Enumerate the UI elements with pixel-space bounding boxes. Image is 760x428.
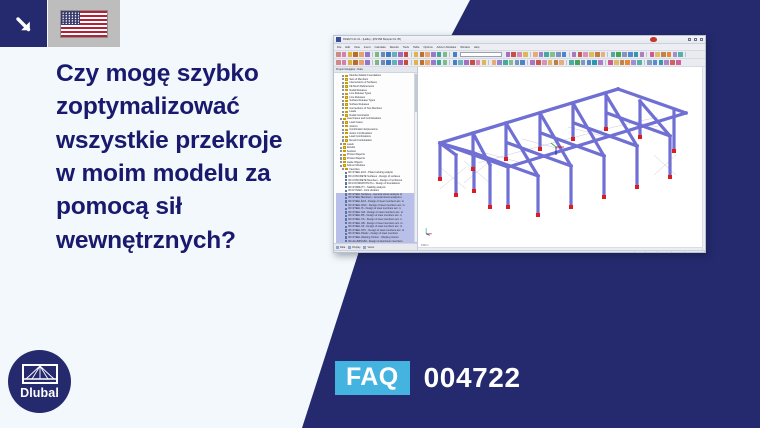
toolbar-button[interactable] bbox=[398, 52, 403, 57]
tree-expand-icon[interactable] bbox=[342, 96, 344, 98]
canvas-vertical-scrollbar[interactable] bbox=[702, 67, 705, 250]
toolbar-separator bbox=[411, 52, 412, 57]
menu-item-tools[interactable]: Tools bbox=[403, 46, 409, 49]
tree-item-label: Surface Release Types bbox=[349, 99, 375, 102]
toolbar-button[interactable] bbox=[562, 52, 567, 57]
tree-item-label: RF-STEEL Members - General stress analys… bbox=[348, 196, 402, 199]
toolbar-button[interactable] bbox=[443, 60, 448, 65]
tree-expand-icon[interactable] bbox=[342, 89, 344, 91]
toolbar-button[interactable] bbox=[425, 60, 430, 65]
toolbar-button[interactable] bbox=[443, 52, 448, 57]
menu-item-table[interactable]: Table bbox=[413, 46, 419, 49]
tree-expand-icon[interactable] bbox=[342, 121, 344, 123]
toolbar-button[interactable] bbox=[381, 52, 386, 57]
toolbar-button[interactable] bbox=[611, 52, 616, 57]
tree-item-label: Action Combinations bbox=[349, 132, 372, 135]
toolbar-button[interactable] bbox=[601, 52, 606, 57]
tree-item-label: Load Cases bbox=[349, 121, 362, 124]
project-navigator[interactable]: Project Navigator - Data Member Elastic … bbox=[334, 67, 418, 250]
toolbar-button[interactable] bbox=[664, 60, 669, 65]
toolbar-button[interactable] bbox=[616, 52, 621, 57]
window-controls[interactable] bbox=[688, 38, 703, 41]
tree-expand-icon[interactable] bbox=[340, 118, 342, 120]
toolbar-button[interactable] bbox=[392, 52, 397, 57]
toolbar-button[interactable] bbox=[640, 52, 645, 57]
toolbar-button[interactable] bbox=[625, 60, 630, 65]
folder-icon bbox=[345, 125, 348, 127]
canvas-horizontal-scrollbar[interactable] bbox=[418, 247, 702, 250]
dlubal-truss-icon bbox=[22, 364, 58, 384]
toolbar-button[interactable] bbox=[414, 52, 419, 57]
folder-icon bbox=[345, 75, 348, 77]
toolbar-button[interactable] bbox=[653, 60, 658, 65]
toolbar-button[interactable] bbox=[464, 60, 469, 65]
tree-expand-icon[interactable] bbox=[342, 111, 344, 113]
folder-icon bbox=[345, 93, 348, 95]
folder-icon bbox=[343, 154, 346, 156]
statusbar-toggle-ortho[interactable]: ORTHO bbox=[658, 251, 672, 253]
toolbar-button[interactable] bbox=[592, 60, 597, 65]
tree-item-label: RF-CONCRETE Members - Design of reinforc… bbox=[348, 179, 402, 182]
menu-item-add-on-modules[interactable]: Add-on Modules bbox=[437, 46, 457, 49]
menu-item-file[interactable]: File bbox=[337, 46, 341, 49]
tree-item-label: Line Releases bbox=[349, 96, 365, 99]
toolbar-button[interactable] bbox=[437, 60, 442, 65]
navigator-scrollbar[interactable] bbox=[414, 73, 417, 242]
tree-expand-icon[interactable] bbox=[342, 85, 344, 87]
app-icon bbox=[336, 37, 341, 42]
folder-icon bbox=[345, 103, 348, 105]
toolbar-button[interactable] bbox=[595, 52, 600, 57]
arrow-badge bbox=[0, 0, 47, 47]
toolbar-button[interactable] bbox=[634, 52, 639, 57]
toolbar-button[interactable] bbox=[628, 52, 633, 57]
us-flag-icon bbox=[61, 11, 107, 37]
app-toolbar-row1[interactable] bbox=[334, 51, 705, 59]
toolbar-button[interactable] bbox=[348, 60, 353, 65]
toolbar-separator bbox=[488, 60, 489, 65]
tree-item-label: Nodal Constraints bbox=[349, 114, 369, 117]
module-icon bbox=[345, 240, 348, 242]
folder-icon bbox=[345, 168, 348, 170]
toolbar-button[interactable] bbox=[375, 60, 380, 65]
menu-item-insert[interactable]: Insert bbox=[364, 46, 371, 49]
folder-icon bbox=[345, 139, 348, 141]
language-flag-badge bbox=[48, 0, 120, 47]
tree-expand-icon[interactable] bbox=[342, 139, 344, 141]
tree-item-label: Printout Reports bbox=[347, 157, 365, 160]
structural-model-3d bbox=[418, 67, 705, 250]
tree-expand-icon[interactable] bbox=[342, 136, 344, 138]
tree-expand-icon[interactable] bbox=[340, 165, 342, 167]
toolbar-button[interactable] bbox=[492, 60, 497, 65]
toolbar-button[interactable] bbox=[509, 60, 514, 65]
toolbar-button[interactable] bbox=[506, 52, 511, 57]
folder-icon bbox=[343, 150, 346, 152]
toolbar-separator bbox=[449, 52, 450, 57]
toolbar-button[interactable] bbox=[559, 60, 564, 65]
toolbar-button[interactable] bbox=[620, 60, 625, 65]
folder-icon bbox=[343, 143, 346, 145]
tree-item-label: Surface Releases bbox=[349, 103, 369, 106]
page-title: Czy mogę szybko zoptymalizować wszystkie… bbox=[56, 57, 306, 257]
slide-canvas: Czy mogę szybko zoptymalizować wszystkie… bbox=[0, 0, 760, 428]
folder-icon bbox=[343, 164, 346, 166]
toolbar-button[interactable] bbox=[398, 60, 403, 65]
tree-item-label: RF-STEEL EC3 - Plate buckling analysis bbox=[348, 171, 393, 174]
toolbar-separator bbox=[644, 60, 645, 65]
toolbar-button[interactable] bbox=[425, 52, 430, 57]
toolbar-separator bbox=[685, 52, 686, 57]
toolbar-button[interactable] bbox=[392, 60, 397, 65]
tree-expand-icon[interactable] bbox=[342, 114, 344, 116]
tree-expand-icon[interactable] bbox=[340, 154, 342, 156]
toolbar-separator bbox=[607, 52, 608, 57]
tree-expand-icon[interactable] bbox=[340, 143, 342, 145]
toolbar-button[interactable] bbox=[631, 60, 636, 65]
app-statusbar: Model RF-STEEL Members is ready.SNAPGRID… bbox=[334, 250, 705, 253]
toolbar-button[interactable] bbox=[578, 52, 583, 57]
tree-item-label: Loads bbox=[347, 143, 354, 146]
toolbar-separator bbox=[372, 60, 373, 65]
tree-item-label: Guide Objects bbox=[347, 161, 363, 164]
module-icon bbox=[345, 197, 348, 199]
toolbar-button[interactable] bbox=[503, 60, 508, 65]
tree-item-label: Combination Expressions bbox=[349, 128, 377, 131]
tree-item-label: RF-STEEL Plastic - Design of steel membe… bbox=[348, 232, 398, 235]
navigator-tab-label: Views bbox=[367, 246, 374, 249]
tree-item-label: FE Mesh Refinements bbox=[349, 85, 374, 88]
tree-item-label: Actions bbox=[349, 125, 357, 128]
toolbar-button[interactable] bbox=[520, 60, 525, 65]
minimize-icon[interactable] bbox=[688, 38, 691, 41]
folder-icon bbox=[345, 100, 348, 102]
folder-icon bbox=[345, 111, 348, 113]
toolbar-button[interactable] bbox=[655, 52, 660, 57]
tree-item-label: RF-STABILITY - Stability analysis bbox=[348, 186, 385, 189]
menu-item-window[interactable]: Window bbox=[460, 46, 470, 49]
toolbar-button[interactable] bbox=[598, 60, 603, 65]
toolbar-combobox[interactable] bbox=[460, 52, 502, 57]
tree-item-label: Load Cases and Combinations bbox=[347, 117, 381, 120]
module-icon bbox=[345, 204, 348, 206]
toolbar-button[interactable] bbox=[404, 52, 409, 57]
tree-expand-icon[interactable] bbox=[342, 100, 344, 102]
toolbar-button[interactable] bbox=[667, 52, 672, 57]
toolbar-separator bbox=[530, 52, 531, 57]
toolbar-button[interactable] bbox=[637, 60, 642, 65]
toolbar-button[interactable] bbox=[572, 52, 577, 57]
toolbar-button[interactable] bbox=[453, 52, 458, 57]
module-icon bbox=[345, 186, 348, 188]
module-icon bbox=[345, 182, 348, 184]
axis-indicator-icon bbox=[424, 226, 434, 236]
tree-expand-icon[interactable] bbox=[342, 93, 344, 95]
toolbar-button[interactable] bbox=[575, 60, 580, 65]
folder-icon bbox=[343, 118, 346, 120]
tree-item-label: Loads bbox=[349, 110, 356, 113]
toolbar-button[interactable] bbox=[647, 60, 652, 65]
tree-item-label: Nodal Releases bbox=[349, 89, 367, 92]
module-icon bbox=[345, 226, 348, 228]
menu-item-options[interactable]: Options bbox=[423, 46, 432, 49]
toolbar-separator bbox=[527, 60, 528, 65]
tree-expand-icon[interactable] bbox=[342, 78, 344, 80]
module-icon bbox=[345, 172, 348, 174]
toolbar-button[interactable] bbox=[515, 60, 520, 65]
navigator-tab-label: Display bbox=[352, 246, 360, 249]
module-icon bbox=[345, 193, 348, 195]
toolbar-button[interactable] bbox=[554, 60, 559, 65]
tree-expand-icon[interactable] bbox=[342, 75, 344, 77]
dlubal-logo: Dlubal bbox=[8, 350, 71, 413]
toolbar-button[interactable] bbox=[431, 52, 436, 57]
tree-item-label: RF-STEEL AISC - Design of steel members … bbox=[348, 204, 404, 207]
toolbar-separator bbox=[449, 60, 450, 65]
toolbar-button[interactable] bbox=[482, 60, 487, 65]
faq-badge: FAQ 004722 bbox=[335, 361, 521, 395]
toolbar-button[interactable] bbox=[608, 60, 613, 65]
toolbar-button[interactable] bbox=[542, 60, 547, 65]
tree-item-label: RF-STEEL BS - Design of steel members ac… bbox=[348, 214, 402, 217]
module-icon bbox=[345, 229, 348, 231]
toolbar-button[interactable] bbox=[386, 52, 391, 57]
toolbar-button[interactable] bbox=[381, 60, 386, 65]
statusbar-message: Model RF-STEEL Members is ready. bbox=[334, 251, 635, 253]
toolbar-button[interactable] bbox=[511, 52, 516, 57]
tree-item-label: Intersections of Surfaces bbox=[349, 81, 377, 84]
statusbar-toggle-snap[interactable]: SNAP bbox=[635, 251, 647, 253]
toolbar-button[interactable] bbox=[470, 60, 475, 65]
tree-item-label: Line Release Types bbox=[349, 92, 371, 95]
folder-icon bbox=[345, 85, 348, 87]
toolbar-button[interactable] bbox=[342, 60, 347, 65]
toolbar-button[interactable] bbox=[650, 52, 655, 57]
folder-icon bbox=[345, 89, 348, 91]
folder-icon bbox=[345, 132, 348, 134]
toolbar-separator bbox=[605, 60, 606, 65]
toolbar-button[interactable] bbox=[375, 52, 380, 57]
tree-expand-icon[interactable] bbox=[340, 147, 342, 149]
statusbar-toggle-osnap[interactable]: OSNAP bbox=[672, 251, 686, 253]
module-icon bbox=[345, 236, 348, 238]
toolbar-button[interactable] bbox=[458, 60, 463, 65]
tree-item-label: RF-FOUNDATION Pro - Design of foundation… bbox=[348, 182, 400, 185]
navigator-tree[interactable]: Member Elastic FoundationsSets of Member… bbox=[334, 73, 417, 243]
menu-item-results[interactable]: Results bbox=[390, 46, 399, 49]
folder-icon bbox=[345, 136, 348, 138]
tree-item-label: Favorites bbox=[349, 168, 359, 171]
folder-icon bbox=[345, 82, 348, 84]
toolbar-button[interactable] bbox=[614, 60, 619, 65]
toolbar-separator bbox=[372, 52, 373, 57]
frame-members bbox=[440, 89, 686, 215]
tree-item-label: Result Combinations bbox=[349, 139, 372, 142]
model-canvas[interactable]: 0.00 m bbox=[418, 67, 705, 250]
toolbar-button[interactable] bbox=[530, 60, 535, 65]
tree-item-label: RF-STEEL NTC - Design of steel members a… bbox=[348, 229, 404, 232]
menu-item-help[interactable]: Help bbox=[474, 46, 480, 49]
tree-item-label: RF-CONCRETE Surfaces - Design of surface… bbox=[348, 175, 400, 178]
faq-number: 004722 bbox=[424, 362, 521, 394]
folder-icon bbox=[345, 121, 348, 123]
tree-expand-icon[interactable] bbox=[340, 161, 342, 163]
tree-item-label: Load Combinations bbox=[349, 135, 371, 138]
tree-item-label: RF-STEEL GB - Design of steel members ac… bbox=[348, 222, 402, 225]
toolbar-button[interactable] bbox=[336, 52, 341, 57]
toolbar-separator bbox=[566, 60, 567, 65]
tab-icon bbox=[348, 246, 351, 249]
folder-icon bbox=[345, 96, 348, 98]
arrow-down-right-icon bbox=[13, 13, 35, 35]
toolbar-separator bbox=[646, 52, 647, 57]
toolbar-button[interactable] bbox=[359, 52, 364, 57]
folder-icon bbox=[345, 129, 348, 131]
toolbar-button[interactable] bbox=[622, 52, 627, 57]
toolbar-button[interactable] bbox=[359, 60, 364, 65]
toolbar-button[interactable] bbox=[556, 52, 561, 57]
toolbar-button[interactable] bbox=[539, 52, 544, 57]
toolbar-button[interactable] bbox=[548, 60, 553, 65]
module-icon bbox=[345, 190, 348, 192]
tree-expand-icon[interactable] bbox=[342, 168, 344, 170]
navigator-tabs[interactable]: DataDisplayViews bbox=[334, 243, 417, 250]
navigator-tab-views[interactable]: Views bbox=[363, 246, 374, 249]
tree-expand-icon[interactable] bbox=[342, 107, 344, 109]
toolbar-button[interactable] bbox=[404, 60, 409, 65]
toolbar-button[interactable] bbox=[673, 52, 678, 57]
toolbar-button[interactable] bbox=[431, 60, 436, 65]
toolbar-button[interactable] bbox=[336, 60, 341, 65]
module-icon bbox=[345, 208, 348, 210]
toolbar-button[interactable] bbox=[437, 52, 442, 57]
app-title: RFEM 5.21.01 - [Halle] - [RSTAB Beispiel… bbox=[343, 38, 401, 41]
statusbar-toggle-grid[interactable]: GRID bbox=[646, 251, 657, 253]
folder-icon bbox=[345, 78, 348, 80]
maximize-icon[interactable] bbox=[694, 38, 697, 41]
toolbar-button[interactable] bbox=[676, 60, 681, 65]
toolbar-button[interactable] bbox=[523, 52, 528, 57]
notification-badge bbox=[650, 37, 657, 42]
dlubal-wordmark: Dlubal bbox=[20, 386, 59, 400]
toolbar-button[interactable] bbox=[589, 52, 594, 57]
toolbar-button[interactable] bbox=[533, 52, 538, 57]
toolbar-button[interactable] bbox=[517, 52, 522, 57]
toolbar-button[interactable] bbox=[365, 60, 370, 65]
menu-item-view[interactable]: View bbox=[354, 46, 360, 49]
tree-item-label: Sections bbox=[347, 150, 357, 153]
app-body: Project Navigator - Data Member Elastic … bbox=[334, 67, 705, 250]
faq-label: FAQ bbox=[335, 361, 410, 395]
tree-item-label: Sets of Members bbox=[349, 78, 368, 81]
tree-item-label: RF-STEEL SIA - Design of steel members a… bbox=[348, 211, 403, 214]
toolbar-button[interactable] bbox=[544, 52, 549, 57]
menu-item-calculate[interactable]: Calculate bbox=[375, 46, 386, 49]
menu-item-edit[interactable]: Edit bbox=[345, 46, 350, 49]
tree-item-label: RF-STEEL IS - Design of steel members ac… bbox=[348, 207, 401, 210]
folder-icon bbox=[345, 107, 348, 109]
folder-icon bbox=[343, 161, 346, 163]
folder-icon bbox=[343, 157, 346, 159]
module-icon bbox=[345, 222, 348, 224]
tree-expand-icon[interactable] bbox=[342, 129, 344, 131]
toolbar-button[interactable] bbox=[353, 52, 358, 57]
tree-expand-icon[interactable] bbox=[340, 150, 342, 152]
toolbar-button[interactable] bbox=[583, 52, 588, 57]
tree-item-label: RF-STEEL CS - Design of steel members ac… bbox=[348, 218, 402, 221]
tree-item-label: RF-STEEL Surfaces - General stress analy… bbox=[348, 193, 402, 196]
tree-item-label: RF-STEEL Warping Torsion - Warping torsi… bbox=[348, 236, 398, 239]
navigator-tab-display[interactable]: Display bbox=[348, 246, 360, 249]
module-icon bbox=[345, 218, 348, 220]
toolbar-button[interactable] bbox=[569, 60, 574, 65]
toolbar-button[interactable] bbox=[476, 60, 481, 65]
toolbar-button[interactable] bbox=[453, 60, 458, 65]
toolbar-button[interactable] bbox=[365, 52, 370, 57]
toolbar-button[interactable] bbox=[348, 52, 353, 57]
app-screenshot-window: RFEM 5.21.01 - [Halle] - [RSTAB Beispiel… bbox=[333, 35, 706, 253]
tab-icon bbox=[363, 246, 366, 249]
navigator-tab-data[interactable]: Data bbox=[336, 246, 345, 249]
toolbar-button[interactable] bbox=[386, 60, 391, 65]
close-icon[interactable] bbox=[700, 38, 703, 41]
navigator-tab-label: Data bbox=[340, 246, 345, 249]
module-icon bbox=[345, 175, 348, 177]
toolbar-button[interactable] bbox=[353, 60, 358, 65]
tree-item-label: Member Elastic Foundations bbox=[349, 74, 381, 77]
toolbar-button[interactable] bbox=[420, 60, 425, 65]
tree-item-label: Printout Reports bbox=[347, 153, 365, 156]
tree-expand-icon[interactable] bbox=[342, 103, 344, 105]
toolbar-button[interactable] bbox=[342, 52, 347, 57]
toolbar-separator bbox=[569, 52, 570, 57]
statusbar-toggle-point grid[interactable]: POINT GRID bbox=[685, 251, 705, 253]
tree-expand-icon[interactable] bbox=[342, 132, 344, 134]
folder-icon bbox=[345, 114, 348, 116]
folder-icon bbox=[343, 146, 346, 148]
tree-item-label: Results bbox=[347, 146, 355, 149]
module-icon bbox=[345, 233, 348, 235]
tree-item-label: RF-STEEL AS - Design of steel members ac… bbox=[348, 225, 402, 228]
toolbar-button[interactable] bbox=[550, 52, 555, 57]
toolbar-button[interactable] bbox=[536, 60, 541, 65]
toolbar-separator bbox=[411, 60, 412, 65]
tree-item-label: Add-on Modules bbox=[347, 164, 365, 167]
tree-item-label: Connections of Two Members bbox=[349, 107, 382, 110]
toolbar-button[interactable] bbox=[587, 60, 592, 65]
module-icon bbox=[345, 179, 348, 181]
module-icon bbox=[345, 211, 348, 213]
app-menubar[interactable]: FileEditViewInsertCalculateResultsToolsT… bbox=[334, 44, 705, 51]
toolbar-button[interactable] bbox=[497, 60, 502, 65]
tree-expand-icon[interactable] bbox=[342, 125, 344, 127]
app-toolbar-row2[interactable] bbox=[334, 59, 705, 67]
tree-item-label: RF-DYNAM - Joint vibration bbox=[348, 189, 379, 192]
toolbar-button[interactable] bbox=[678, 52, 683, 57]
tree-expand-icon[interactable] bbox=[342, 82, 344, 84]
tree-expand-icon[interactable] bbox=[340, 157, 342, 159]
toolbar-button[interactable] bbox=[670, 60, 675, 65]
tree-item-label: RF-STEEL EC3 - Design of steel members a… bbox=[348, 200, 403, 203]
toolbar-button[interactable] bbox=[414, 60, 419, 65]
toolbar-button[interactable] bbox=[661, 52, 666, 57]
module-icon bbox=[345, 215, 348, 217]
toolbar-button[interactable] bbox=[581, 60, 586, 65]
module-icon bbox=[345, 200, 348, 202]
tab-icon bbox=[336, 246, 339, 249]
toolbar-button[interactable] bbox=[659, 60, 664, 65]
toolbar-button[interactable] bbox=[420, 52, 425, 57]
